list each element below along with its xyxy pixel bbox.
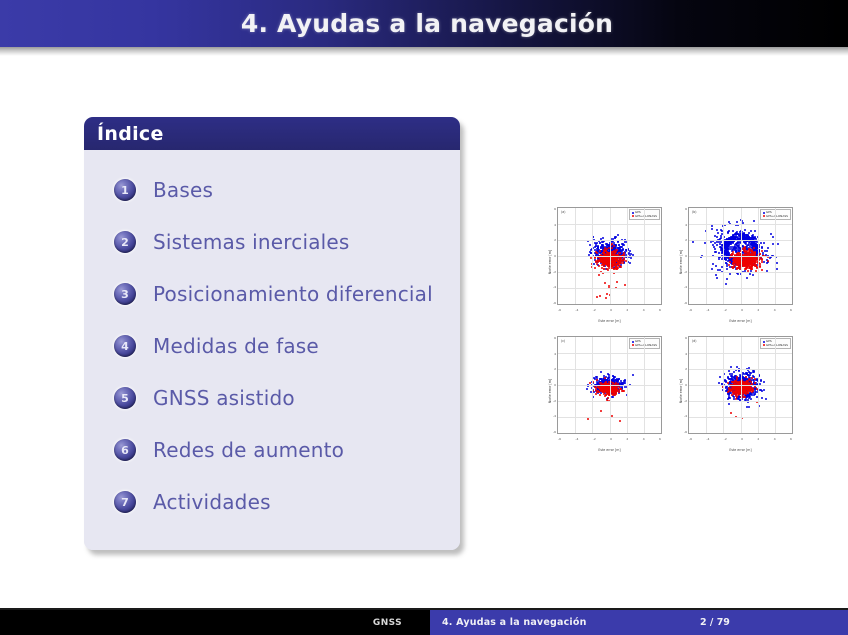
scatter-point xyxy=(605,297,607,299)
bullet-number-icon: 2 xyxy=(114,231,136,253)
scatter-point xyxy=(743,396,745,398)
legend-label: GPS+GLONASS xyxy=(635,344,657,348)
scatter-point xyxy=(613,268,615,270)
scatter-point xyxy=(606,387,608,389)
grid-line-horizontal xyxy=(558,288,661,289)
scatter-point xyxy=(618,244,620,246)
scatter-point xyxy=(599,295,601,297)
scatter-point xyxy=(767,260,769,262)
scatter-point xyxy=(736,221,738,223)
scatter-point xyxy=(766,250,768,252)
scatter-point xyxy=(743,260,745,262)
scatter-plot-row-bottom: (c) GPS GPS+GLONASS 6420-2-4-6 -6-4-2024… xyxy=(540,327,802,456)
scatter-point xyxy=(623,244,625,246)
x-tick-label: -2 xyxy=(724,437,727,443)
scatter-point xyxy=(586,388,588,390)
plot-tag: (d) xyxy=(692,339,697,343)
y-tick-label: 2 xyxy=(554,238,556,242)
grid-line-vertical xyxy=(644,208,645,304)
scatter-point xyxy=(714,248,716,250)
y-tick-label: 6 xyxy=(554,336,556,340)
y-tick-label: -6 xyxy=(553,430,556,434)
scatter-point xyxy=(746,277,748,279)
index-item-label: Medidas de fase xyxy=(153,334,319,358)
plot-x-axis-ticks: -6-4-20246 xyxy=(557,308,662,314)
scatter-point xyxy=(747,259,749,261)
scatter-point xyxy=(716,236,718,238)
scatter-point xyxy=(712,263,714,265)
scatter-point xyxy=(769,257,771,259)
scatter-point xyxy=(763,261,765,263)
scatter-point xyxy=(598,265,600,267)
y-tick-label: 6 xyxy=(685,336,687,340)
scatter-point xyxy=(715,251,717,253)
scatter-plot-b: (b) GPS GPS+GLONASS 6420-2-4-6 -6-4-2024… xyxy=(671,198,802,327)
legend-label: GPS+GLONASS xyxy=(766,215,788,219)
index-item-label: Posicionamiento diferencial xyxy=(153,282,433,306)
scatter-point xyxy=(711,225,713,227)
grid-line-vertical xyxy=(758,208,759,304)
scatter-point xyxy=(770,233,772,235)
bullet-number-icon: 3 xyxy=(114,283,136,305)
scatter-point xyxy=(619,265,621,267)
index-item-sistemas-inerciales[interactable]: 2 Sistemas inerciales xyxy=(84,216,460,268)
x-tick-label: 6 xyxy=(659,437,661,443)
scatter-point xyxy=(729,261,731,263)
scatter-point xyxy=(763,389,765,391)
scatter-point xyxy=(750,398,752,400)
y-tick-label: 2 xyxy=(685,367,687,371)
bullet-number-icon: 6 xyxy=(114,439,136,461)
header-shadow-divider xyxy=(0,47,848,56)
scatter-point xyxy=(623,390,625,392)
legend-marker-red-icon xyxy=(763,344,765,346)
scatter-point xyxy=(711,228,713,230)
y-tick-label: -2 xyxy=(684,270,687,274)
scatter-point xyxy=(711,268,713,270)
scatter-point xyxy=(743,265,745,267)
scatter-point xyxy=(613,242,615,244)
scatter-point xyxy=(736,392,738,394)
scatter-point xyxy=(614,260,616,262)
scatter-point xyxy=(613,245,615,247)
bullet-number-icon: 5 xyxy=(114,387,136,409)
scatter-point xyxy=(741,398,743,400)
scatter-plot-d: (d) GPS GPS+GLONASS 6420-2-4-6 -6-4-2024… xyxy=(671,327,802,456)
scatter-point xyxy=(732,267,734,269)
scatter-point xyxy=(734,233,736,235)
plot-frame: (c) GPS GPS+GLONASS xyxy=(557,336,662,434)
scatter-point xyxy=(624,379,626,381)
scatter-point xyxy=(759,266,761,268)
scatter-point xyxy=(732,230,734,232)
x-tick-label: 6 xyxy=(790,308,792,314)
x-tick-label: 0 xyxy=(741,308,743,314)
scatter-point xyxy=(716,277,718,279)
scatter-point xyxy=(730,366,732,368)
y-tick-label: -6 xyxy=(684,301,687,305)
scatter-point xyxy=(597,259,599,261)
plot-x-axis-ticks: -6-4-20246 xyxy=(557,437,662,443)
scatter-point xyxy=(744,237,746,239)
scatter-point xyxy=(755,257,757,259)
scatter-point xyxy=(754,391,756,393)
index-item-posicionamiento-diferencial[interactable]: 3 Posicionamiento diferencial xyxy=(84,268,460,320)
slide-footer: GNSS 4. Ayudas a la navegación 2 / 79 xyxy=(0,610,848,635)
x-tick-label: -2 xyxy=(724,308,727,314)
y-tick-label: 0 xyxy=(554,383,556,387)
scatter-point xyxy=(713,246,715,248)
y-tick-label: 6 xyxy=(685,207,687,211)
grid-line-vertical xyxy=(775,337,776,433)
grid-line-horizontal xyxy=(558,272,661,273)
scatter-point xyxy=(716,229,718,231)
legend-marker-red-icon xyxy=(632,344,634,346)
x-tick-label: 4 xyxy=(774,437,776,443)
scatter-point xyxy=(754,386,756,388)
bullet-number-icon: 4 xyxy=(114,335,136,357)
index-title-bar: Índice xyxy=(84,117,460,150)
scatter-point xyxy=(747,392,749,394)
scatter-point xyxy=(735,250,737,252)
legend-marker-blue-icon xyxy=(763,212,765,214)
y-tick-label: -4 xyxy=(553,414,556,418)
x-tick-label: 4 xyxy=(774,308,776,314)
legend-marker-blue-icon xyxy=(632,212,634,214)
scatter-point xyxy=(745,376,747,378)
index-item-medidas-de-fase[interactable]: 4 Medidas de fase xyxy=(84,320,460,372)
scatter-point xyxy=(596,296,598,298)
scatter-point xyxy=(746,406,748,408)
scatter-point xyxy=(602,237,604,239)
scatter-point xyxy=(744,392,746,394)
x-tick-label: 2 xyxy=(626,308,628,314)
x-tick-label: -2 xyxy=(593,437,596,443)
scatter-point xyxy=(603,265,605,267)
x-tick-label: 2 xyxy=(626,437,628,443)
bullet-number-icon: 7 xyxy=(114,491,136,513)
legend-marker-blue-icon xyxy=(632,341,634,343)
index-item-label: Bases xyxy=(153,178,213,202)
scatter-point xyxy=(724,250,726,252)
scatter-point xyxy=(726,278,728,280)
scatter-point xyxy=(604,282,606,284)
plot-tag: (c) xyxy=(561,339,565,343)
scatter-point xyxy=(589,244,591,246)
scatter-point xyxy=(729,257,731,259)
scatter-point xyxy=(759,389,761,391)
scatter-point xyxy=(753,252,755,254)
scatter-point xyxy=(748,406,750,408)
index-item-label: Redes de aumento xyxy=(153,438,344,462)
scatter-point xyxy=(742,235,744,237)
scatter-point xyxy=(632,374,634,376)
scatter-point xyxy=(734,380,736,382)
grid-line-horizontal xyxy=(689,385,792,386)
footer-left-section[interactable]: GNSS xyxy=(0,610,430,635)
scatter-point xyxy=(777,243,779,245)
scatter-point xyxy=(717,232,719,234)
scatter-point xyxy=(733,371,735,373)
scatter-point xyxy=(692,241,694,243)
x-tick-label: 0 xyxy=(610,308,612,314)
y-tick-label: -2 xyxy=(553,399,556,403)
index-item-label: GNSS asistido xyxy=(153,386,295,410)
scatter-point xyxy=(618,247,620,249)
grid-line-horizontal xyxy=(689,417,792,418)
grid-line-horizontal xyxy=(558,256,661,257)
x-tick-label: 0 xyxy=(741,437,743,443)
grid-line-horizontal xyxy=(558,385,661,386)
legend-label: GPS+GLONASS xyxy=(766,344,788,348)
scatter-point xyxy=(629,262,631,264)
scatter-point xyxy=(594,257,596,259)
grid-line-horizontal xyxy=(689,256,792,257)
scatter-point xyxy=(748,378,750,380)
y-tick-label: -2 xyxy=(553,270,556,274)
y-tick-label: -4 xyxy=(684,285,687,289)
legend-marker-red-icon xyxy=(632,215,634,217)
scatter-point xyxy=(725,283,727,285)
grid-line-vertical xyxy=(644,337,645,433)
scatter-point xyxy=(616,257,618,259)
plot-x-label: Este error [m] xyxy=(688,448,793,452)
x-tick-label: 6 xyxy=(790,437,792,443)
scatter-point xyxy=(753,220,755,222)
scatter-point xyxy=(611,243,613,245)
x-tick-label: -4 xyxy=(575,308,578,314)
y-tick-label: -2 xyxy=(684,399,687,403)
scatter-point xyxy=(606,245,608,247)
scatter-point xyxy=(595,245,597,247)
scatter-point xyxy=(751,235,753,237)
scatter-point xyxy=(727,398,729,400)
index-list: 1 Bases 2 Sistemas inerciales 3 Posicion… xyxy=(84,150,460,550)
scatter-point xyxy=(630,257,632,259)
x-tick-label: -6 xyxy=(558,437,561,443)
scatter-point xyxy=(755,259,757,261)
scatter-point xyxy=(744,229,746,231)
bullet-number-icon: 1 xyxy=(114,179,136,201)
scatter-point xyxy=(622,262,624,264)
x-tick-label: -4 xyxy=(706,308,709,314)
scatter-point xyxy=(746,234,748,236)
plot-y-label: Norte error [m] xyxy=(548,371,552,411)
scatter-point xyxy=(750,230,752,232)
x-tick-label: -6 xyxy=(558,308,561,314)
plot-y-label: Norte error [m] xyxy=(548,242,552,282)
scatter-point xyxy=(761,269,763,271)
scatter-point xyxy=(737,382,739,384)
scatter-point xyxy=(736,262,738,264)
scatter-point xyxy=(600,410,602,412)
scatter-point xyxy=(624,284,626,286)
scatter-point xyxy=(763,242,765,244)
scatter-point xyxy=(776,262,778,264)
scatter-point xyxy=(752,274,754,276)
scatter-point xyxy=(599,394,601,396)
scatter-point xyxy=(729,246,731,248)
scatter-point xyxy=(606,293,608,295)
x-tick-label: -6 xyxy=(689,437,692,443)
scatter-point xyxy=(749,273,751,275)
scatter-point xyxy=(750,268,752,270)
x-tick-label: 0 xyxy=(610,437,612,443)
plot-y-label: Norte error [m] xyxy=(679,371,683,411)
scatter-point xyxy=(753,260,755,262)
scatter-point xyxy=(595,376,597,378)
y-tick-label: 2 xyxy=(554,367,556,371)
index-panel: Índice 1 Bases 2 Sistemas inerciales 3 P… xyxy=(84,117,460,550)
grid-line-vertical xyxy=(775,208,776,304)
scatter-point xyxy=(728,243,730,245)
grid-line-vertical xyxy=(627,208,628,304)
plot-x-label: Este error [m] xyxy=(688,319,793,323)
grid-line-vertical xyxy=(758,337,759,433)
scatter-point xyxy=(606,260,608,262)
grid-line-horizontal xyxy=(689,272,792,273)
scatter-point xyxy=(737,389,739,391)
scatter-point xyxy=(776,268,778,270)
scatter-point xyxy=(751,242,753,244)
scatter-point xyxy=(736,366,738,368)
scatter-point xyxy=(748,257,750,259)
y-tick-label: 4 xyxy=(685,352,687,356)
scatter-point xyxy=(742,248,744,250)
index-item-actividades[interactable]: 7 Actividades xyxy=(84,476,460,528)
scatter-point xyxy=(753,394,755,396)
footer-section-label: 4. Ayudas a la navegación xyxy=(442,617,587,628)
x-tick-label: 2 xyxy=(757,308,759,314)
y-tick-label: -6 xyxy=(553,301,556,305)
plot-x-label: Este error [m] xyxy=(557,448,662,452)
scatter-point xyxy=(622,248,624,250)
plot-frame: (d) GPS GPS+GLONASS xyxy=(688,336,793,434)
plot-x-label: Este error [m] xyxy=(557,319,662,323)
scatter-point xyxy=(721,252,723,254)
scatter-point xyxy=(617,234,619,236)
x-tick-label: 4 xyxy=(643,308,645,314)
index-item-label: Actividades xyxy=(153,490,271,514)
scatter-point xyxy=(726,268,728,270)
scatter-point xyxy=(754,382,756,384)
scatter-plot-a: (a) GPS GPS+GLONASS 6420-2-4-6 -6-4-2024… xyxy=(540,198,671,327)
scatter-point xyxy=(761,397,763,399)
scatter-point xyxy=(616,263,618,265)
y-tick-label: 0 xyxy=(685,254,687,258)
scatter-point xyxy=(598,274,600,276)
y-tick-label: -4 xyxy=(553,285,556,289)
plot-x-axis-ticks: -6-4-20246 xyxy=(688,437,793,443)
scatter-point xyxy=(763,381,765,383)
index-item-redes-de-aumento[interactable]: 6 Redes de aumento xyxy=(84,424,460,476)
footer-course-label: GNSS xyxy=(373,618,402,628)
scatter-point xyxy=(587,418,589,420)
scatter-point xyxy=(760,380,762,382)
grid-line-horizontal xyxy=(689,401,792,402)
page-title: 4. Ayudas a la navegación xyxy=(0,0,848,47)
x-tick-label: 4 xyxy=(643,437,645,443)
y-tick-label: 4 xyxy=(554,352,556,356)
grid-line-horizontal xyxy=(558,417,661,418)
index-title: Índice xyxy=(97,123,164,145)
scatter-point xyxy=(737,233,739,235)
y-tick-label: 6 xyxy=(554,207,556,211)
legend-marker-red-icon xyxy=(763,215,765,217)
scatter-point xyxy=(754,230,756,232)
x-tick-label: -4 xyxy=(575,437,578,443)
scatter-point xyxy=(600,371,602,373)
scatter-plot-c: (c) GPS GPS+GLONASS 6420-2-4-6 -6-4-2024… xyxy=(540,327,671,456)
footer-right-section[interactable]: 4. Ayudas a la navegación 2 / 79 xyxy=(430,610,848,635)
scatter-point xyxy=(760,242,762,244)
index-item-bases[interactable]: 1 Bases xyxy=(84,164,460,216)
plot-y-label: Norte error [m] xyxy=(679,242,683,282)
x-tick-label: -6 xyxy=(689,308,692,314)
scatter-point xyxy=(745,251,747,253)
x-tick-label: -2 xyxy=(593,308,596,314)
scatter-point xyxy=(753,247,755,249)
scatter-point xyxy=(623,252,625,254)
index-item-gnss-asistido[interactable]: 5 GNSS asistido xyxy=(84,372,460,424)
scatter-point xyxy=(730,412,732,414)
scatter-point xyxy=(728,403,730,405)
plot-frame: (b) GPS GPS+GLONASS xyxy=(688,207,793,305)
grid-line-horizontal xyxy=(558,401,661,402)
y-tick-label: 0 xyxy=(554,254,556,258)
scatter-point xyxy=(767,247,769,249)
scatter-plot-row-top: (a) GPS GPS+GLONASS 6420-2-4-6 -6-4-2024… xyxy=(540,198,802,327)
plot-frame: (a) GPS GPS+GLONASS xyxy=(557,207,662,305)
scatter-point xyxy=(748,375,750,377)
scatter-point xyxy=(747,388,749,390)
scatter-point xyxy=(719,376,721,378)
x-tick-label: 6 xyxy=(659,308,661,314)
y-tick-label: 4 xyxy=(554,223,556,227)
grid-line-vertical xyxy=(627,337,628,433)
scatter-point xyxy=(616,281,618,283)
scatter-point xyxy=(736,245,738,247)
index-item-label: Sistemas inerciales xyxy=(153,230,350,254)
plot-tag: (b) xyxy=(692,210,697,214)
grid-line-horizontal xyxy=(689,288,792,289)
scatter-point xyxy=(715,274,717,276)
scatter-point xyxy=(715,265,717,267)
scatter-point xyxy=(619,420,621,422)
scatter-point xyxy=(594,267,596,269)
footer-page-number: 2 / 79 xyxy=(700,617,730,628)
y-tick-label: -6 xyxy=(684,430,687,434)
scatter-point xyxy=(752,263,754,265)
scatter-point xyxy=(751,377,753,379)
x-tick-label: -4 xyxy=(706,437,709,443)
y-tick-label: 2 xyxy=(685,238,687,242)
scatter-point xyxy=(731,381,733,383)
y-tick-label: 4 xyxy=(685,223,687,227)
scatter-point xyxy=(596,379,598,381)
legend-marker-blue-icon xyxy=(763,341,765,343)
y-tick-label: -4 xyxy=(684,414,687,418)
x-tick-label: 2 xyxy=(757,437,759,443)
plot-x-axis-ticks: -6-4-20246 xyxy=(688,308,793,314)
scatter-point xyxy=(745,373,747,375)
plot-tag: (a) xyxy=(561,210,565,214)
legend-label: GPS+GLONASS xyxy=(635,215,657,219)
scatter-point xyxy=(614,237,616,239)
scatter-plot-figure: (a) GPS GPS+GLONASS 6420-2-4-6 -6-4-2024… xyxy=(540,198,802,456)
slide-header: 4. Ayudas a la navegación xyxy=(0,0,848,47)
scatter-point xyxy=(716,244,718,246)
